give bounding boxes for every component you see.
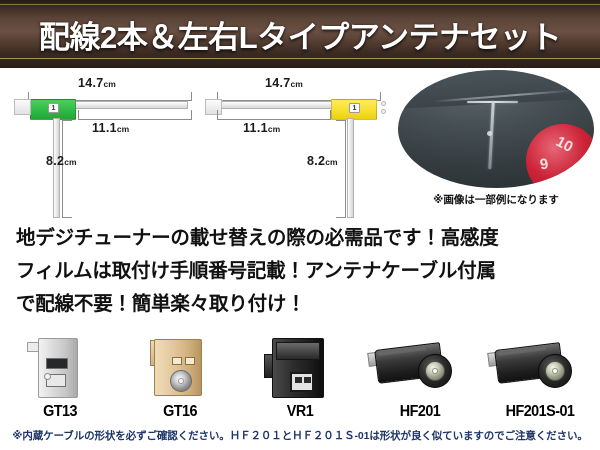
connector-label-gt13: GT13: [6, 403, 114, 421]
dim-label-vertical-right: 8.2cm: [307, 154, 338, 168]
product-banner: 配線2本＆左右Lタイプアンテナセット 14.7cm 1 11.1cm: [0, 0, 600, 450]
description-line-3: で配線不要！簡単楽々取り付け！: [16, 288, 594, 321]
inspection-sticker: 10 9: [526, 124, 594, 188]
dim-value: 14.7: [78, 76, 104, 90]
right-antenna-diagram: 14.7cm 1 11.1cm 8.2cm: [205, 68, 405, 218]
footer-disclaimer: ※内蔵ケーブルの形状を必ずご確認ください。ＨＦ２０１とＨＦ２０１Ｓ-01は形状が…: [0, 428, 600, 443]
dim-bracket-vertical-left: [62, 120, 72, 218]
connector-label-vr1: VR1: [246, 403, 354, 421]
connector-label-gt16: GT16: [126, 403, 234, 421]
description-block: 地デジチューナーの載せ替えの際の必需品です！高感度 フィルムは取付け手順番号記載…: [16, 222, 594, 321]
hf201-connector-icon: [360, 332, 480, 402]
connector-label-hf201s01: HF201S-01: [486, 403, 594, 421]
gt13-connector-icon: [0, 332, 120, 402]
dim-value: 14.7: [265, 76, 291, 90]
page-title: 配線2本＆左右Lタイプアンテナセット: [0, 0, 600, 68]
photo-caption: ※画像は一部例になります: [398, 192, 594, 207]
sticker-text-lower: 9: [539, 156, 550, 174]
connector-item-hf201: HF201: [360, 330, 480, 424]
sticker-text-upper: 10: [553, 133, 576, 156]
dim-value: 11.1: [243, 121, 268, 135]
dim-label-top-left: 14.7cm: [78, 76, 116, 90]
left-antenna-pad-number: 1: [48, 103, 59, 113]
dim-unit: cm: [325, 157, 337, 167]
gt16-connector-icon: [120, 332, 240, 402]
dim-value: 11.1: [92, 121, 117, 135]
dim-value: 8.2: [46, 154, 64, 168]
dim-unit: cm: [64, 157, 76, 167]
dim-unit: cm: [291, 79, 303, 89]
header-banner: 配線2本＆左右Lタイプアンテナセット: [0, 0, 600, 68]
dim-unit: cm: [104, 79, 116, 89]
dim-unit: cm: [268, 124, 280, 134]
connector-item-gt13: GT13: [0, 330, 120, 424]
hf201s01-connector-icon: [480, 332, 600, 402]
dim-label-top-right: 14.7cm: [265, 76, 303, 90]
description-line-1: 地デジチューナーの載せ替えの際の必需品です！高感度: [16, 222, 594, 255]
installation-photo: 10 9: [398, 70, 594, 188]
connector-item-gt16: GT16: [120, 330, 240, 424]
dim-bracket-vertical-right: [336, 120, 346, 218]
dim-value: 8.2: [307, 154, 325, 168]
connector-label-hf201: HF201: [366, 403, 474, 421]
right-antenna-vertical-strip: [347, 118, 354, 218]
dim-unit: cm: [117, 124, 129, 134]
dim-bracket-middle-left: [78, 110, 192, 120]
right-antenna-pad-number: 1: [349, 103, 360, 113]
dim-label-middle-left: 11.1cm: [92, 121, 129, 135]
connector-item-hf201s01: HF201S-01: [480, 330, 600, 424]
description-line-2: フィルムは取付け手順番号記載！アンテナケーブル付属: [16, 255, 594, 288]
vr1-connector-icon: [240, 332, 360, 402]
dim-bracket-middle-right: [217, 110, 331, 120]
connector-item-vr1: VR1: [240, 330, 360, 424]
connector-type-row: GT13 GT16 VR1: [0, 330, 600, 424]
left-antenna-lead-tab: [14, 99, 31, 115]
left-antenna-diagram: 14.7cm 1 11.1cm 8.2cm: [6, 68, 206, 218]
dim-label-vertical-left: 8.2cm: [46, 154, 77, 168]
dim-label-middle-right: 11.1cm: [243, 121, 280, 135]
right-antenna-contact-dots: [381, 101, 387, 117]
left-antenna-vertical-strip: [53, 118, 60, 218]
